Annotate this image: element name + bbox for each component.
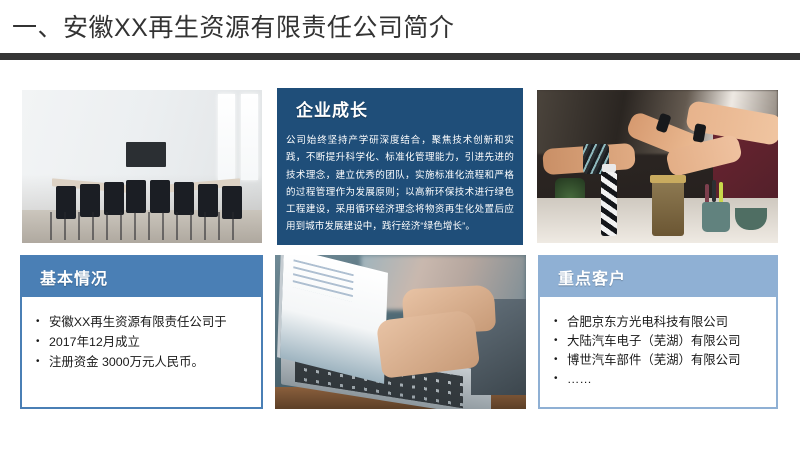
pen-shape <box>712 180 716 202</box>
team-fistbump-photo <box>537 90 778 243</box>
list-item-text: …… <box>567 372 592 386</box>
panel-growth-heading: 企业成长 <box>277 88 523 128</box>
pen-cup-shape <box>702 202 730 232</box>
slide-canvas: 一、安徽XX再生资源有限责任公司简介 <box>0 0 800 450</box>
list-item: 合肥京东方光电科技有限公司 <box>554 313 766 332</box>
window-shape <box>241 94 258 180</box>
chair-shape <box>104 182 124 215</box>
chair-legs-shape <box>50 212 240 240</box>
list-item-text: 2017年12月成立 <box>49 333 251 352</box>
screen-text-lines-shape <box>293 259 354 302</box>
list-item-text: 注册资金 3000万元人民币。 <box>49 355 204 369</box>
list-item: 大陆汽车电子（芜湖）有限公司 <box>554 332 766 351</box>
panel-enterprise-growth: 企业成长 公司始终坚持产学研深度结合，聚焦技术创新和实践，不断提升科学化、标准化… <box>277 88 523 245</box>
bottle-cap-shape <box>602 164 616 172</box>
panel-basic-heading: 基本情况 <box>22 257 261 297</box>
list-item-text: 大陆汽车电子（芜湖）有限公司 <box>567 334 740 348</box>
list-item: 博世汽车部件（芜湖）有限公司 <box>554 351 766 370</box>
jar-lid-shape <box>650 175 686 183</box>
key-clients-list: 合肥京东方光电科技有限公司 大陆汽车电子（芜湖）有限公司 博世汽车部件（芜湖）有… <box>540 297 776 389</box>
panel-key-clients: 重点客户 合肥京东方光电科技有限公司 大陆汽车电子（芜湖）有限公司 博世汽车部件… <box>538 255 778 409</box>
hand-shape <box>376 309 480 379</box>
list-item-text: 安徽XX再生资源有限责任公司于 <box>49 315 227 329</box>
page-title: 一、安徽XX再生资源有限责任公司简介 <box>12 12 454 44</box>
chair-shape <box>126 180 146 213</box>
basic-info-list: 安徽XX再生资源有限责任公司于 2017年12月成立 注册资金 3000万元人民… <box>22 297 261 372</box>
hands-typing-laptop-photo <box>275 255 526 409</box>
list-item-text: 博世汽车部件（芜湖）有限公司 <box>567 353 740 367</box>
title-divider <box>0 53 800 60</box>
pen-shape <box>719 182 723 204</box>
list-item-continuation: 2017年12月成立 <box>36 333 251 352</box>
panel-growth-body: 公司始终坚持产学研深度结合，聚焦技术创新和实践，不断提升科学化、标准化管理能力，… <box>284 132 516 238</box>
chair-shape <box>150 180 170 213</box>
list-item: 安徽XX再生资源有限责任公司于 <box>36 313 251 332</box>
list-item-text: 合肥京东方光电科技有限公司 <box>567 315 728 329</box>
list-item: …… <box>554 370 766 389</box>
panel-clients-heading: 重点客户 <box>540 257 776 297</box>
list-item: 注册资金 3000万元人民币。 <box>36 353 251 372</box>
panel-basic-info: 基本情况 安徽XX再生资源有限责任公司于 2017年12月成立 注册资金 300… <box>20 255 263 409</box>
snack-jar-shape <box>652 180 684 236</box>
chair-shape <box>174 182 194 215</box>
window-shape <box>218 94 235 180</box>
meeting-room-photo <box>22 90 262 243</box>
water-bottle-shape <box>601 170 617 236</box>
tv-screen-shape <box>126 142 166 167</box>
panel-growth-text: 公司始终坚持产学研深度结合，聚焦技术创新和实践，不断提升科学化、标准化管理能力，… <box>284 132 516 236</box>
